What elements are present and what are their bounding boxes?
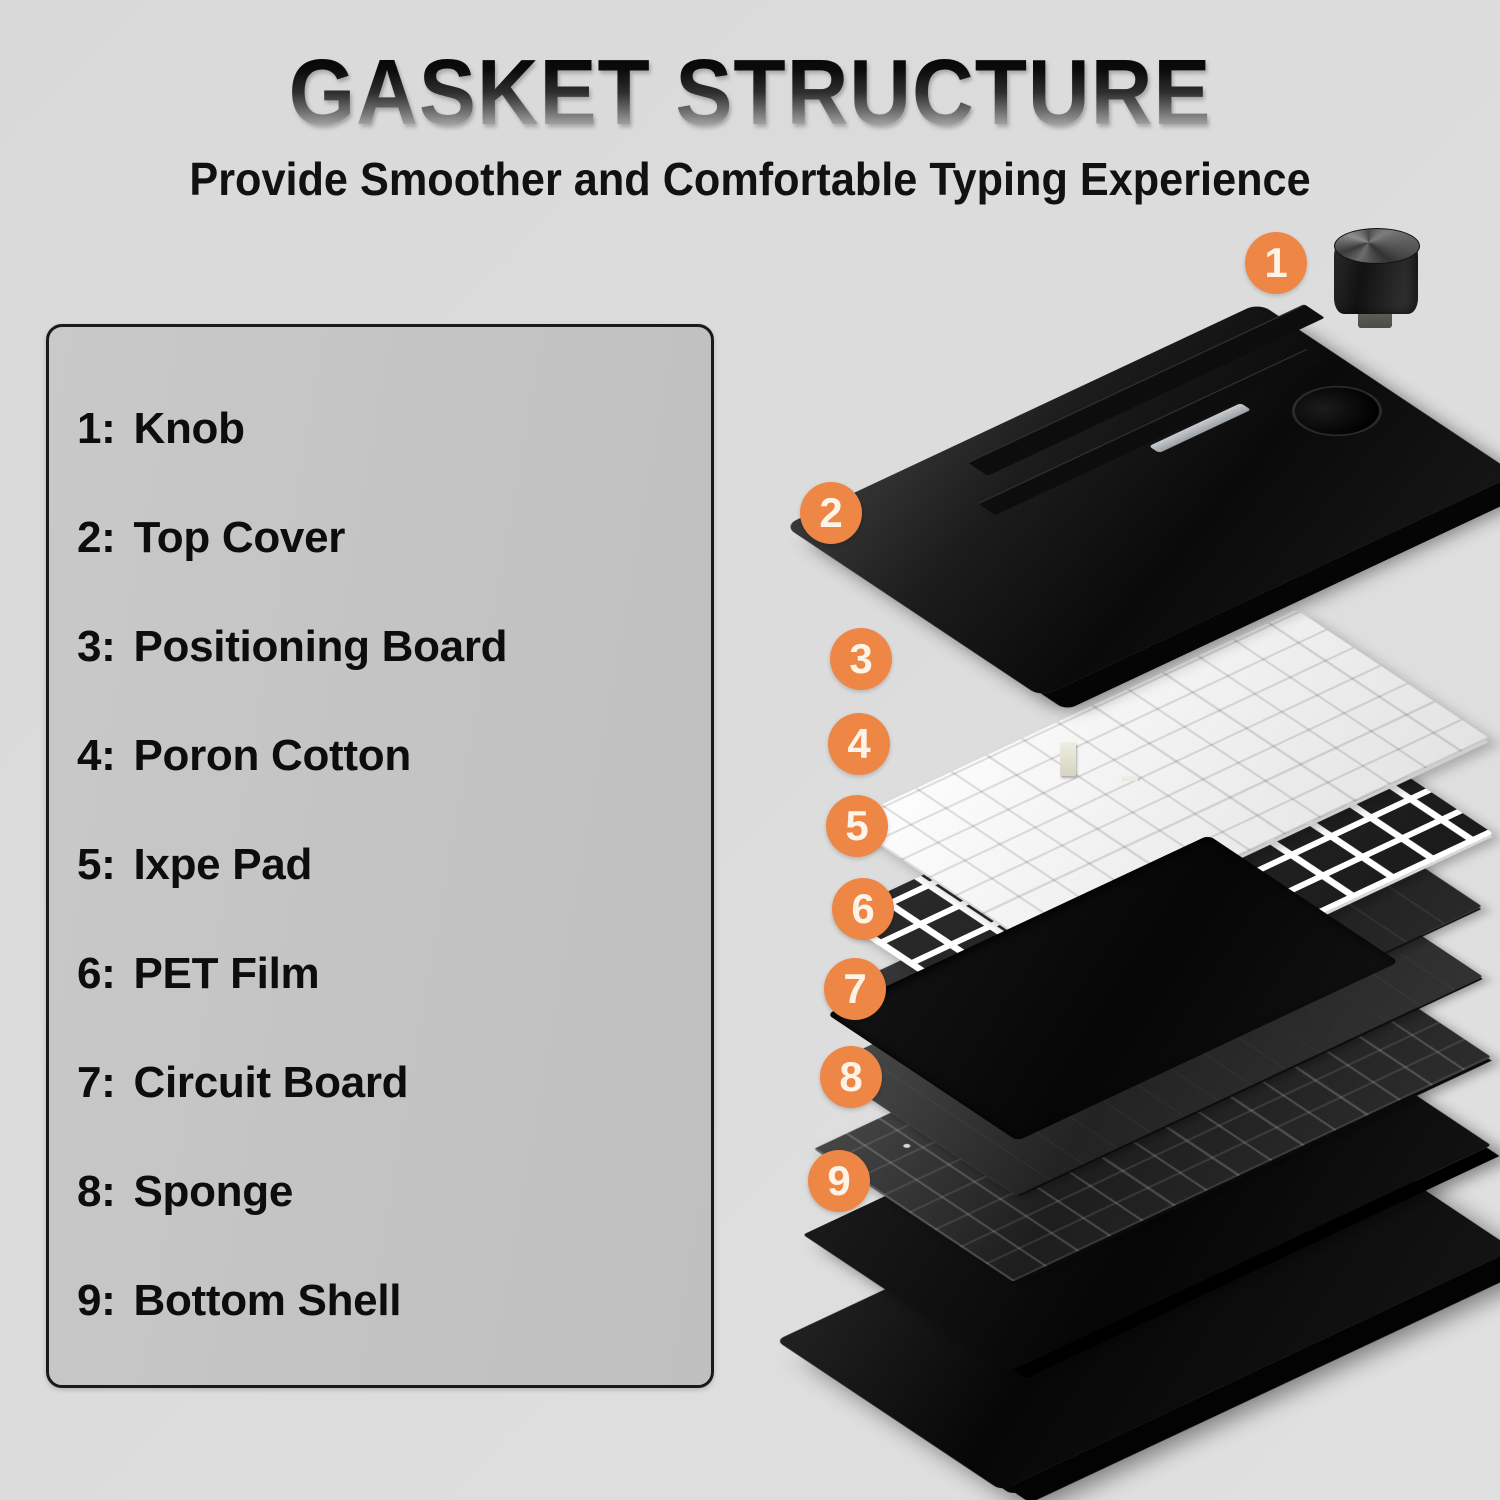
legend-item-poron-cotton: 4: Poron Cotton xyxy=(77,716,711,825)
legend-label: PET Film xyxy=(133,949,319,998)
top-cover-slot xyxy=(967,304,1325,476)
legend-item-circuit-board: 7: Circuit Board xyxy=(77,1043,711,1152)
badge-9-bottom-shell: 9 xyxy=(808,1150,870,1212)
top-cover-stabilizer-bar xyxy=(1149,403,1251,453)
badge-1-knob: 1 xyxy=(1245,232,1307,294)
legend-label: Poron Cotton xyxy=(133,731,410,780)
legend-number: 3: xyxy=(77,622,116,671)
stabilizer-stem xyxy=(1060,742,1076,776)
page-subtitle: Provide Smoother and Comfortable Typing … xyxy=(45,152,1455,206)
legend-item-knob: 1: Knob xyxy=(77,389,711,498)
legend-item-top-cover: 2: Top Cover xyxy=(77,498,711,607)
legend-label: Top Cover xyxy=(133,513,345,562)
legend-label: Positioning Board xyxy=(133,622,507,671)
legend-label: Sponge xyxy=(133,1167,293,1216)
badge-6-pet-film: 6 xyxy=(832,878,894,940)
legend-item-ixpe-pad: 5: Ixpe Pad xyxy=(77,825,711,934)
knob-brushed-top xyxy=(1334,228,1420,264)
badge-7-circuit-board: 7 xyxy=(824,958,886,1020)
page-title: GASKET STRUCTURE xyxy=(60,46,1440,139)
top-cover-frame xyxy=(784,303,1500,697)
poster-canvas: GASKET STRUCTURE Provide Smoother and Co… xyxy=(0,0,1500,1500)
legend-item-pet-film: 6: PET Film xyxy=(77,934,711,1043)
legend-number: 2: xyxy=(77,513,116,562)
legend-number: 1: xyxy=(77,404,116,453)
layer-top-cover xyxy=(840,300,1460,700)
knob-cutout xyxy=(1274,376,1401,447)
legend-number: 8: xyxy=(77,1167,116,1216)
legend-label: Ixpe Pad xyxy=(133,840,312,889)
badge-3-positioning-board: 3 xyxy=(830,628,892,690)
header: GASKET STRUCTURE Provide Smoother and Co… xyxy=(0,0,1500,215)
badge-4-poron-cotton: 4 xyxy=(828,713,890,775)
legend-label: Circuit Board xyxy=(133,1058,408,1107)
legend-item-sponge: 8: Sponge xyxy=(77,1152,711,1261)
legend-label: Bottom Shell xyxy=(133,1276,401,1325)
legend-item-positioning-board: 3: Positioning Board xyxy=(77,607,711,716)
legend-number: 9: xyxy=(77,1276,116,1325)
badge-5-ixpe-pad: 5 xyxy=(826,795,888,857)
layer-knob xyxy=(1328,222,1424,332)
legend-number: 4: xyxy=(77,731,116,780)
legend-number: 7: xyxy=(77,1058,116,1107)
badge-2-top-cover: 2 xyxy=(800,482,862,544)
legend-panel: 1: Knob 2: Top Cover 3: Positioning Boar… xyxy=(46,324,714,1388)
legend-number: 5: xyxy=(77,840,116,889)
legend-label: Knob xyxy=(133,404,244,453)
badge-8-sponge: 8 xyxy=(820,1046,882,1108)
legend-number: 6: xyxy=(77,949,116,998)
legend-item-bottom-shell: 9: Bottom Shell xyxy=(77,1261,711,1370)
